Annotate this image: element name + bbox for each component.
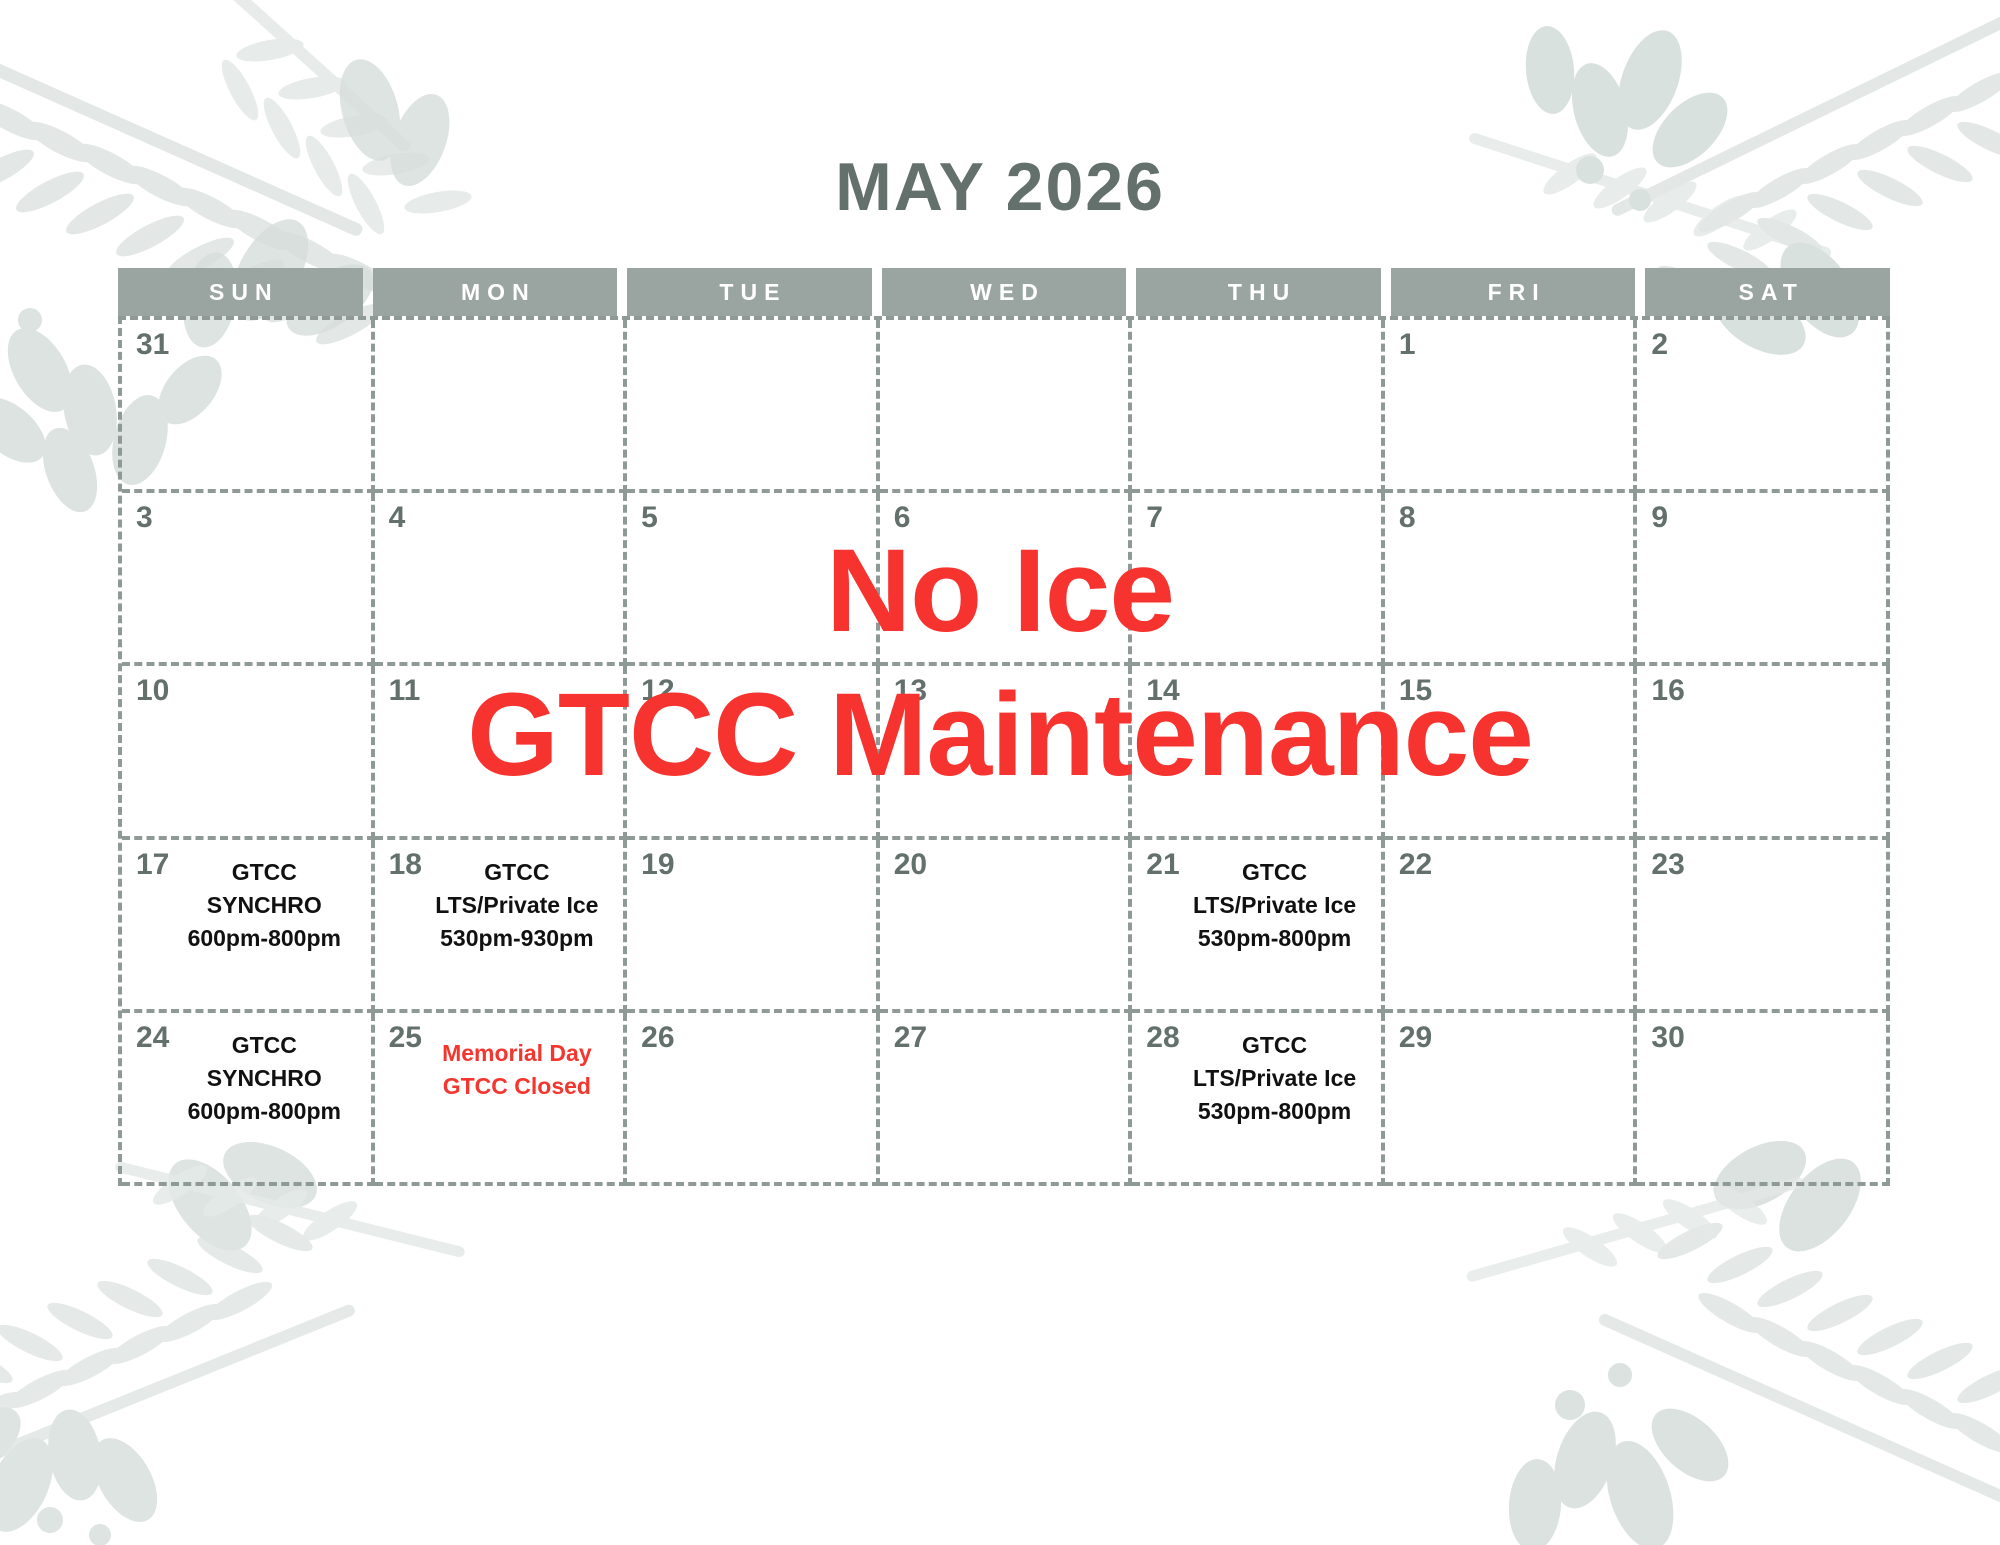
day-number: 6: [894, 503, 911, 533]
weekday-header-thu: THU: [1136, 268, 1381, 316]
day-cell[interactable]: 18GTCCLTS/Private Ice530pm-930pm: [375, 840, 628, 1013]
weekday-header-sat: SAT: [1645, 268, 1890, 316]
day-cell[interactable]: 16: [1637, 666, 1890, 839]
day-number: 10: [136, 676, 169, 706]
day-cell[interactable]: 14: [1132, 666, 1385, 839]
day-cell[interactable]: [627, 320, 880, 493]
event-line: SYNCHRO: [168, 889, 361, 922]
day-cell[interactable]: 5: [627, 493, 880, 666]
day-number: 29: [1399, 1023, 1432, 1053]
day-events: GTCCLTS/Private Ice530pm-800pm: [1132, 856, 1377, 956]
day-cell[interactable]: 11: [375, 666, 628, 839]
day-events: GTCCSYNCHRO600pm-800pm: [122, 1029, 367, 1129]
day-cell[interactable]: 8: [1385, 493, 1638, 666]
weekday-header-fri: FRI: [1391, 268, 1636, 316]
day-cell[interactable]: 13: [880, 666, 1133, 839]
day-number: 5: [641, 503, 658, 533]
day-number: 1: [1399, 330, 1416, 360]
day-number: 7: [1146, 503, 1163, 533]
day-cell[interactable]: 3: [122, 493, 375, 666]
day-events: GTCCLTS/Private Ice530pm-800pm: [1132, 1029, 1377, 1129]
day-cells-container: 311234567891011121314151617GTCCSYNCHRO60…: [118, 316, 1890, 1186]
day-number: 27: [894, 1023, 927, 1053]
event-line: Memorial Day: [421, 1037, 614, 1070]
day-cell[interactable]: 22: [1385, 840, 1638, 1013]
day-number: 14: [1146, 676, 1179, 706]
page-title: MAY 2026: [0, 148, 2000, 226]
day-cell[interactable]: 28GTCCLTS/Private Ice530pm-800pm: [1132, 1013, 1385, 1186]
day-cell[interactable]: 9: [1637, 493, 1890, 666]
weekday-header-mon: MON: [373, 268, 618, 316]
event-line: GTCC: [168, 856, 361, 889]
day-number: 9: [1651, 503, 1668, 533]
event-line: LTS/Private Ice: [421, 889, 614, 922]
day-number: 11: [389, 676, 421, 706]
day-cell[interactable]: 21GTCCLTS/Private Ice530pm-800pm: [1132, 840, 1385, 1013]
day-cell[interactable]: [375, 320, 628, 493]
day-cell[interactable]: 26: [627, 1013, 880, 1186]
event-line: GTCC: [168, 1029, 361, 1062]
day-cell[interactable]: 23: [1637, 840, 1890, 1013]
day-events: GTCCLTS/Private Ice530pm-930pm: [375, 856, 620, 956]
day-number: 12: [641, 676, 674, 706]
day-cell[interactable]: 27: [880, 1013, 1133, 1186]
calendar-page: MAY 2026 SUN MON TUE WED THU FRI SAT 311…: [0, 0, 2000, 1545]
day-number: 16: [1651, 676, 1684, 706]
day-cell[interactable]: [1132, 320, 1385, 493]
event-line: GTCC Closed: [421, 1070, 614, 1103]
day-cell[interactable]: 25Memorial DayGTCC Closed: [375, 1013, 628, 1186]
day-number: 8: [1399, 503, 1416, 533]
weekday-header-sun: SUN: [118, 268, 363, 316]
event-line: 600pm-800pm: [168, 1095, 361, 1128]
day-number: 23: [1651, 850, 1684, 880]
day-number: 4: [389, 503, 406, 533]
day-events: GTCCSYNCHRO600pm-800pm: [122, 856, 367, 956]
day-cell[interactable]: 17GTCCSYNCHRO600pm-800pm: [122, 840, 375, 1013]
day-cell[interactable]: 1: [1385, 320, 1638, 493]
event-line: LTS/Private Ice: [1178, 889, 1371, 922]
day-number: 31: [136, 330, 169, 360]
weekday-header-wed: WED: [882, 268, 1127, 316]
day-cell[interactable]: 19: [627, 840, 880, 1013]
day-number: 13: [894, 676, 927, 706]
day-number: 15: [1399, 676, 1432, 706]
event-line: SYNCHRO: [168, 1062, 361, 1095]
event-line: LTS/Private Ice: [1178, 1062, 1371, 1095]
day-cell[interactable]: 20: [880, 840, 1133, 1013]
day-cell[interactable]: 12: [627, 666, 880, 839]
event-line: GTCC: [421, 856, 614, 889]
day-cell[interactable]: 29: [1385, 1013, 1638, 1186]
weekday-header-row: SUN MON TUE WED THU FRI SAT: [118, 268, 1890, 316]
day-number: 3: [136, 503, 153, 533]
weekday-header-tue: TUE: [627, 268, 872, 316]
day-cell[interactable]: 10: [122, 666, 375, 839]
day-number: 26: [641, 1023, 674, 1053]
day-number: 2: [1651, 330, 1668, 360]
event-line: 600pm-800pm: [168, 922, 361, 955]
event-line: GTCC: [1178, 1029, 1371, 1062]
day-number: 19: [641, 850, 674, 880]
day-cell[interactable]: 24GTCCSYNCHRO600pm-800pm: [122, 1013, 375, 1186]
day-number: 20: [894, 850, 927, 880]
day-number: 30: [1651, 1023, 1684, 1053]
event-line: 530pm-800pm: [1178, 922, 1371, 955]
day-cell[interactable]: [880, 320, 1133, 493]
day-cell[interactable]: 31: [122, 320, 375, 493]
day-cell[interactable]: 30: [1637, 1013, 1890, 1186]
event-line: 530pm-930pm: [421, 922, 614, 955]
day-number: 22: [1399, 850, 1432, 880]
day-cell[interactable]: 6: [880, 493, 1133, 666]
calendar-grid: SUN MON TUE WED THU FRI SAT 311234567891…: [118, 268, 1890, 1186]
day-events: Memorial DayGTCC Closed: [375, 1037, 620, 1104]
day-cell[interactable]: 4: [375, 493, 628, 666]
day-cell[interactable]: 15: [1385, 666, 1638, 839]
day-cell[interactable]: 7: [1132, 493, 1385, 666]
event-line: 530pm-800pm: [1178, 1095, 1371, 1128]
day-cell[interactable]: 2: [1637, 320, 1890, 493]
event-line: GTCC: [1178, 856, 1371, 889]
